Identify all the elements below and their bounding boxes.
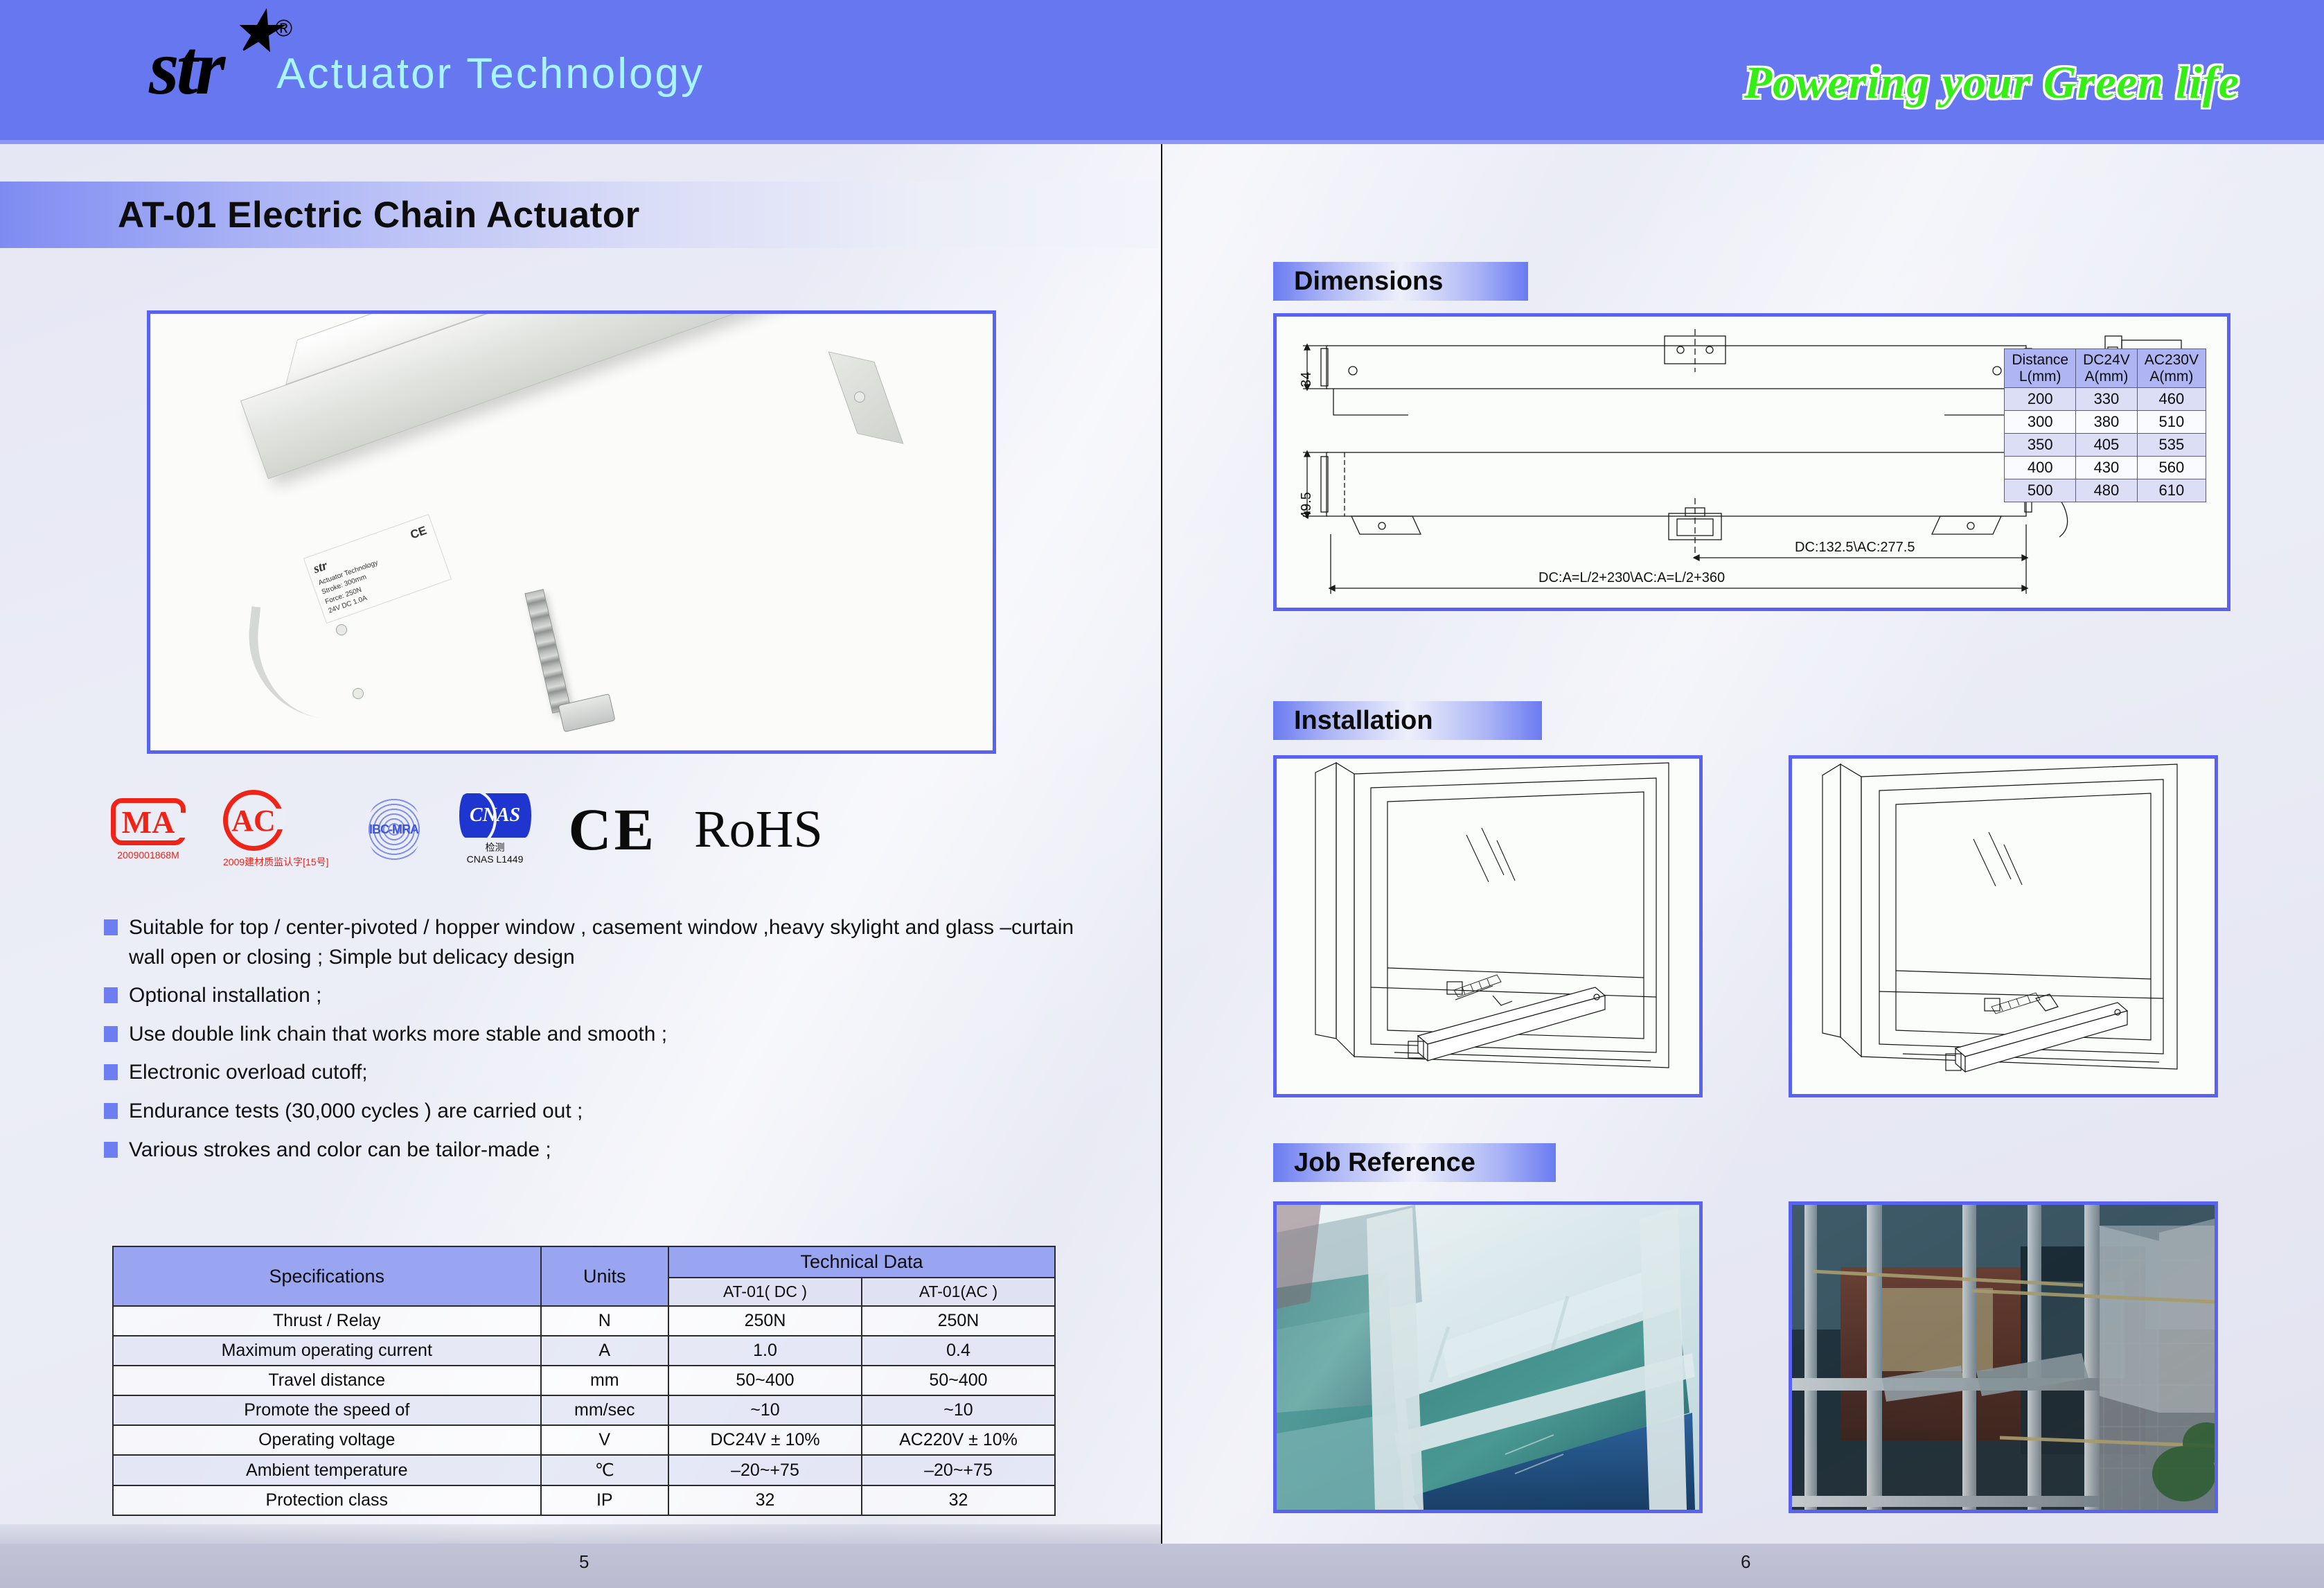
col-header-dc24v-line2: A(mm) bbox=[2084, 369, 2128, 385]
cell-ac: AC220V ± 10% bbox=[862, 1425, 1055, 1455]
job-photo-atrium bbox=[1789, 1201, 2218, 1513]
page-title: AT-01 Electric Chain Actuator bbox=[118, 194, 640, 236]
section-header-job-reference: Job Reference bbox=[1273, 1143, 1556, 1182]
bullet-square-icon bbox=[104, 1064, 118, 1080]
dimension-label-height-top: 34 bbox=[1299, 372, 1315, 387]
awning-window-drawing bbox=[1277, 759, 1699, 1094]
list-item: Optional installation ; bbox=[104, 981, 1088, 1011]
cell-ac230v: 460 bbox=[2137, 388, 2206, 411]
bullet-square-icon bbox=[104, 1142, 118, 1158]
ce-mark: CE bbox=[569, 800, 657, 859]
ce-icon: CE bbox=[569, 800, 657, 859]
col-header-ac-model: AT-01(AC ) bbox=[862, 1278, 1055, 1306]
bullet-square-icon bbox=[104, 1103, 118, 1119]
cell-ac230v: 535 bbox=[2137, 434, 2206, 457]
cell-spec: Thrust / Relay bbox=[113, 1306, 541, 1336]
section-title: Job Reference bbox=[1294, 1148, 1475, 1178]
col-header-distance-line2: L(mm) bbox=[2019, 369, 2061, 385]
table-row: Thrust / Relay N 250N 250N bbox=[113, 1306, 1055, 1336]
feature-text: Optional installation ; bbox=[129, 981, 322, 1011]
bullet-square-icon bbox=[104, 919, 118, 935]
table-row: Maximum operating current A 1.0 0.4 bbox=[113, 1336, 1055, 1366]
page-spine-divider bbox=[1161, 144, 1162, 1544]
col-header-ac230v-line2: A(mm) bbox=[2149, 369, 2193, 385]
install-diagram-hopper-window bbox=[1789, 755, 2218, 1097]
cnas-icon: CNAS bbox=[459, 793, 531, 838]
table-row: 200 330 460 bbox=[2005, 388, 2206, 411]
page-header: str ★ ® Actuator Technology Powering you… bbox=[0, 0, 2324, 144]
dimension-label-height-side: 49.5 bbox=[1299, 492, 1315, 519]
col-header-dc-model: AT-01( DC ) bbox=[668, 1278, 862, 1306]
product-photo-frame: str Actuator Technology Stroke: 300mm Fo… bbox=[147, 310, 996, 754]
cell-distance: 350 bbox=[2005, 434, 2076, 457]
cell-units: mm bbox=[541, 1366, 669, 1395]
cell-ac230v: 560 bbox=[2137, 457, 2206, 479]
table-row: 300 380 510 bbox=[2005, 411, 2206, 434]
cell-dc24v: 430 bbox=[2076, 457, 2138, 479]
footer-band bbox=[0, 1544, 2324, 1588]
cell-distance: 400 bbox=[2005, 457, 2076, 479]
table-row: Protection class IP 32 32 bbox=[113, 1485, 1055, 1515]
col-header-units: Units bbox=[541, 1246, 669, 1306]
section-title: Dimensions bbox=[1294, 267, 1443, 297]
cell-ac: 0.4 bbox=[862, 1336, 1055, 1366]
col-header-ac230v-line1: AC230V bbox=[2145, 352, 2199, 368]
cell-spec: Protection class bbox=[113, 1485, 541, 1515]
job-photo-curtain-wall bbox=[1273, 1201, 1703, 1513]
cell-ac: 250N bbox=[862, 1306, 1055, 1336]
dimensions-panel: 34 49.5 DC:132.5\AC:277.5 DC:A=L/2+230\A… bbox=[1273, 313, 2230, 611]
star-icon: ★ bbox=[231, 10, 279, 58]
ccc-mark: AC 2009建材质监认字[15号] bbox=[223, 790, 329, 869]
col-header-distance-line1: Distance bbox=[2012, 352, 2068, 368]
install-diagram-awning-window bbox=[1273, 755, 1703, 1097]
product-photo: str Actuator Technology Stroke: 300mm Fo… bbox=[150, 314, 993, 750]
brand-logo: str ★ ® Actuator Technology bbox=[149, 29, 704, 107]
cell-ac: –20~+75 bbox=[862, 1455, 1055, 1485]
logo-wordmark: str ★ ® bbox=[149, 29, 222, 107]
cell-dc24v: 480 bbox=[2076, 479, 2138, 502]
col-header-dc24v: DC24V A(mm) bbox=[2076, 349, 2138, 388]
list-item: Use double link chain that works more st… bbox=[104, 1020, 1088, 1050]
actuator-power-cable bbox=[241, 606, 362, 721]
page-number-left: 5 bbox=[579, 1551, 589, 1573]
section-header-dimensions: Dimensions bbox=[1273, 262, 1528, 301]
cell-spec: Maximum operating current bbox=[113, 1336, 541, 1366]
brand-tagline: Actuator Technology bbox=[276, 49, 704, 98]
page-number-right: 6 bbox=[1741, 1551, 1750, 1573]
table-row: 350 405 535 bbox=[2005, 434, 2206, 457]
cell-units: N bbox=[541, 1306, 669, 1336]
cell-spec: Ambient temperature bbox=[113, 1455, 541, 1485]
rohs-mark: RoHS bbox=[694, 803, 823, 856]
section-title: Installation bbox=[1294, 706, 1433, 736]
col-header-distance: Distance L(mm) bbox=[2005, 349, 2076, 388]
cell-dc24v: 380 bbox=[2076, 411, 2138, 434]
cell-dc: 250N bbox=[668, 1306, 862, 1336]
list-item: Suitable for top / center-pivoted / hopp… bbox=[104, 913, 1088, 972]
dimension-label-overall: DC:A=L/2+230\AC:A=L/2+360 bbox=[1538, 570, 1725, 586]
feature-text: Endurance tests (30,000 cycles ) are car… bbox=[129, 1097, 583, 1127]
product-title-bar: AT-01 Electric Chain Actuator bbox=[0, 182, 1158, 248]
feature-text: Electronic overload cutoff; bbox=[129, 1058, 368, 1088]
cell-ac230v: 510 bbox=[2137, 411, 2206, 434]
curtain-wall-photo bbox=[1277, 1205, 1699, 1510]
cell-ac: ~10 bbox=[862, 1395, 1055, 1425]
dimensions-table-wrapper: Distance L(mm) DC24V A(mm) AC230V A(mm) … bbox=[2004, 349, 2206, 502]
cell-ac: 50~400 bbox=[862, 1366, 1055, 1395]
table-row: Ambient temperature ℃ –20~+75 –20~+75 bbox=[113, 1455, 1055, 1485]
list-item: Endurance tests (30,000 cycles ) are car… bbox=[104, 1097, 1088, 1127]
dimension-label-center: DC:132.5\AC:277.5 bbox=[1795, 540, 1915, 556]
actuator-end-cap bbox=[828, 351, 904, 444]
ibc-mra-mark: IBC-MRA bbox=[366, 796, 422, 863]
specifications-table: Specifications Units Technical Data AT-0… bbox=[112, 1246, 1056, 1516]
cell-dc: ~10 bbox=[668, 1395, 862, 1425]
cell-spec: Travel distance bbox=[113, 1366, 541, 1395]
cell-ac230v: 610 bbox=[2137, 479, 2206, 502]
bullet-square-icon bbox=[104, 987, 118, 1003]
cell-units: ℃ bbox=[541, 1455, 669, 1485]
cell-ac: 32 bbox=[862, 1485, 1055, 1515]
ccc-caption: 2009建材质监认字[15号] bbox=[223, 855, 329, 869]
cell-distance: 200 bbox=[2005, 388, 2076, 411]
cnas-caption-line2: CNAS L1449 bbox=[459, 854, 531, 866]
table-row: Operating voltage V DC24V ± 10% AC220V ±… bbox=[113, 1425, 1055, 1455]
section-header-installation: Installation bbox=[1273, 701, 1542, 740]
cell-units: IP bbox=[541, 1485, 669, 1515]
feature-text: Various strokes and color can be tailor-… bbox=[129, 1136, 551, 1165]
col-header-technical-data: Technical Data bbox=[668, 1246, 1055, 1278]
cnas-mark: CNAS 检测 CNAS L1449 bbox=[459, 793, 531, 866]
cma-mark: MA 2009001868M bbox=[111, 798, 186, 861]
cell-dc: 50~400 bbox=[668, 1366, 862, 1395]
cnas-caption-line1: 检测 bbox=[459, 842, 531, 854]
cell-dc24v: 405 bbox=[2076, 434, 2138, 457]
actuator-screw-icon bbox=[854, 391, 865, 403]
cell-spec: Operating voltage bbox=[113, 1425, 541, 1455]
table-row: Promote the speed of mm/sec ~10 ~10 bbox=[113, 1395, 1055, 1425]
registered-trademark-icon: ® bbox=[275, 17, 290, 40]
list-item: Electronic overload cutoff; bbox=[104, 1058, 1088, 1088]
list-item: Various strokes and color can be tailor-… bbox=[104, 1136, 1088, 1165]
cell-dc: –20~+75 bbox=[668, 1455, 862, 1485]
col-header-dc24v-line1: DC24V bbox=[2083, 352, 2130, 368]
actuator-chain bbox=[524, 589, 571, 714]
cell-dc: 1.0 bbox=[668, 1336, 862, 1366]
product-nameplate: str Actuator Technology Stroke: 300mm Fo… bbox=[303, 514, 452, 624]
footer-band-upper bbox=[0, 1524, 1161, 1544]
cell-distance: 300 bbox=[2005, 411, 2076, 434]
cell-units: V bbox=[541, 1425, 669, 1455]
rohs-icon: RoHS bbox=[694, 803, 823, 856]
col-header-ac230v: AC230V A(mm) bbox=[2137, 349, 2206, 388]
hopper-window-drawing bbox=[1792, 759, 2215, 1094]
table-row: 500 480 610 bbox=[2005, 479, 2206, 502]
col-header-specifications: Specifications bbox=[113, 1246, 541, 1306]
dimensions-table: Distance L(mm) DC24V A(mm) AC230V A(mm) … bbox=[2004, 349, 2206, 502]
cell-dc: DC24V ± 10% bbox=[668, 1425, 862, 1455]
cell-spec: Promote the speed of bbox=[113, 1395, 541, 1425]
cell-dc: 32 bbox=[668, 1485, 862, 1515]
certification-marks: MA 2009001868M AC 2009建材质监认字[15号] IBC-MR… bbox=[111, 784, 804, 874]
logo-text: str bbox=[149, 25, 222, 111]
table-row: 400 430 560 bbox=[2005, 457, 2206, 479]
cma-icon: MA bbox=[111, 798, 186, 845]
cell-units: A bbox=[541, 1336, 669, 1366]
cma-caption: 2009001868M bbox=[111, 849, 186, 861]
ibc-mra-icon: IBC-MRA bbox=[366, 796, 422, 863]
ccc-icon: AC bbox=[223, 790, 284, 851]
atrium-photo bbox=[1792, 1205, 2215, 1510]
feature-text: Suitable for top / center-pivoted / hopp… bbox=[129, 913, 1088, 972]
cell-units: mm/sec bbox=[541, 1395, 669, 1425]
table-row: Travel distance mm 50~400 50~400 bbox=[113, 1366, 1055, 1395]
feature-text: Use double link chain that works more st… bbox=[129, 1020, 667, 1050]
cell-distance: 500 bbox=[2005, 479, 2076, 502]
company-slogan: Powering your Green life bbox=[1744, 57, 2239, 109]
bullet-square-icon bbox=[104, 1026, 118, 1042]
feature-list: Suitable for top / center-pivoted / hopp… bbox=[104, 913, 1088, 1174]
cell-dc24v: 330 bbox=[2076, 388, 2138, 411]
specifications-table-wrapper: Specifications Units Technical Data AT-0… bbox=[112, 1246, 1056, 1516]
